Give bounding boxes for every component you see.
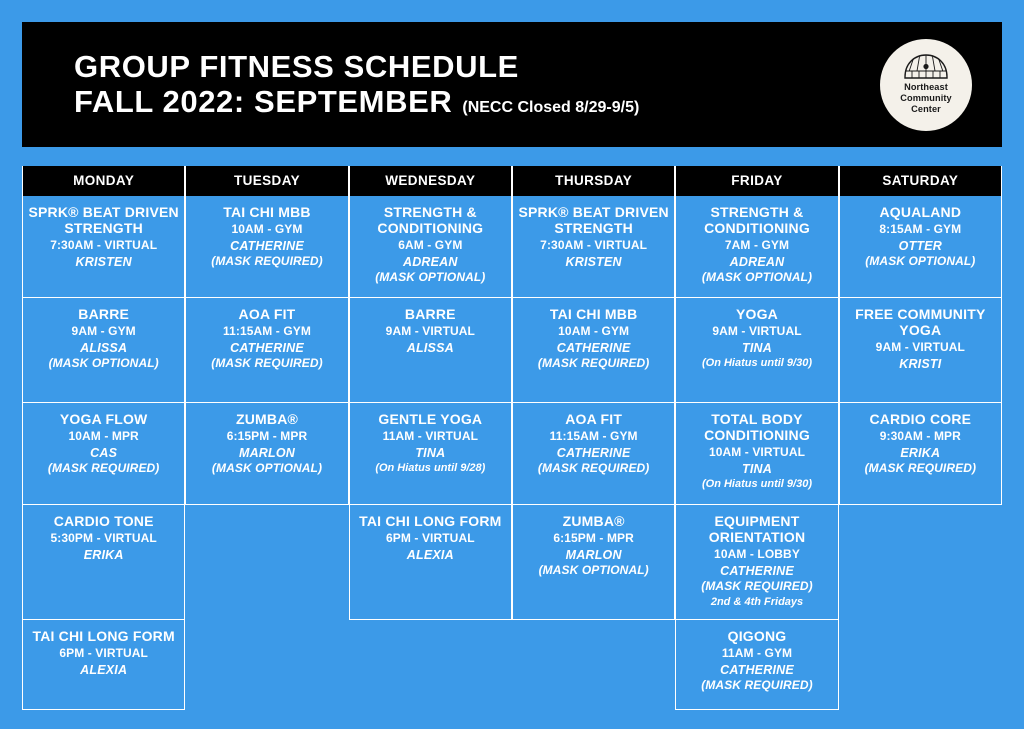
class-cell[interactable]: AOA FIT11:15AM - GYMCATHERINE(MASK REQUI…: [185, 298, 348, 403]
page-subtitle: (NECC Closed 8/29-9/5): [462, 99, 639, 117]
class-instructor: CATHERINE: [517, 445, 670, 461]
class-name: BARRE: [27, 306, 180, 322]
class-mask-policy: (MASK REQUIRED): [27, 461, 180, 477]
class-time-location: 9:30AM - MPR: [844, 429, 997, 445]
class-name: EQUIPMENT ORIENTATION: [680, 513, 833, 545]
class-time-location: 6PM - VIRTUAL: [354, 531, 507, 547]
class-note: (On Hiatus until 9/28): [354, 461, 507, 475]
class-mask-policy: (MASK REQUIRED): [844, 461, 997, 477]
class-name: YOGA: [680, 306, 833, 322]
class-time-location: 6PM - VIRTUAL: [27, 646, 180, 662]
class-instructor: TINA: [354, 445, 507, 461]
class-cell[interactable]: TAI CHI MBB10AM - GYMCATHERINE(MASK REQU…: [512, 298, 675, 403]
day-column-friday: FRIDAYSTRENGTH & CONDITIONING7AM - GYMAD…: [675, 166, 838, 710]
class-instructor: CATHERINE: [190, 340, 343, 356]
class-time-location: 5:30PM - VIRTUAL: [27, 531, 180, 547]
class-time-location: 11:15AM - GYM: [517, 429, 670, 445]
class-time-location: 11AM - GYM: [680, 646, 833, 662]
class-instructor: KRISTEN: [517, 254, 670, 270]
class-cell-empty: [839, 620, 1002, 710]
class-time-location: 6:15PM - MPR: [190, 429, 343, 445]
class-name: CARDIO TONE: [27, 513, 180, 529]
day-header-friday: FRIDAY: [675, 166, 838, 196]
class-time-location: 10AM - GYM: [517, 324, 670, 340]
class-mask-policy: (MASK REQUIRED): [190, 356, 343, 372]
class-note: (On Hiatus until 9/30): [680, 477, 833, 491]
class-note: (On Hiatus until 9/30): [680, 356, 833, 370]
day-header-monday: MONDAY: [22, 166, 185, 196]
class-name: STRENGTH & CONDITIONING: [680, 204, 833, 236]
day-header-saturday: SATURDAY: [839, 166, 1002, 196]
class-instructor: MARLON: [190, 445, 343, 461]
class-instructor: TINA: [680, 461, 833, 477]
class-instructor: KRISTEN: [27, 254, 180, 270]
class-name: QIGONG: [680, 628, 833, 644]
class-time-location: 9AM - GYM: [27, 324, 180, 340]
logo-line-1: Northeast: [900, 82, 951, 93]
class-instructor: TINA: [680, 340, 833, 356]
class-instructor: ALEXIA: [354, 547, 507, 563]
class-cell[interactable]: ZUMBA®6:15PM - MPRMARLON(MASK OPTIONAL): [512, 505, 675, 620]
class-cell[interactable]: TAI CHI LONG FORM6PM - VIRTUALALEXIA: [22, 620, 185, 710]
class-cell[interactable]: BARRE9AM - GYMALISSA(MASK OPTIONAL): [22, 298, 185, 403]
class-instructor: KRISTI: [844, 356, 997, 372]
day-header-thursday: THURSDAY: [512, 166, 675, 196]
class-time-location: 10AM - VIRTUAL: [680, 445, 833, 461]
class-mask-policy: (MASK OPTIONAL): [517, 563, 670, 579]
class-time-location: 6AM - GYM: [354, 238, 507, 254]
class-mask-policy: (MASK REQUIRED): [517, 356, 670, 372]
class-time-location: 8:15AM - GYM: [844, 222, 997, 238]
class-time-location: 7AM - GYM: [680, 238, 833, 254]
class-cell-empty: [349, 620, 512, 710]
class-instructor: CATHERINE: [517, 340, 670, 356]
class-name: GENTLE YOGA: [354, 411, 507, 427]
header-banner: GROUP FITNESS SCHEDULE FALL 2022: SEPTEM…: [22, 22, 1002, 147]
class-instructor: ALISSA: [354, 340, 507, 356]
class-name: STRENGTH & CONDITIONING: [354, 204, 507, 236]
class-cell[interactable]: EQUIPMENT ORIENTATION10AM - LOBBYCATHERI…: [675, 505, 838, 620]
class-cell[interactable]: ZUMBA®6:15PM - MPRMARLON(MASK OPTIONAL): [185, 403, 348, 505]
class-name: TOTAL BODY CONDITIONING: [680, 411, 833, 443]
day-column-monday: MONDAYSPRK® BEAT DRIVEN STRENGTH7:30AM -…: [22, 166, 185, 710]
class-cell[interactable]: SPRK® BEAT DRIVEN STRENGTH7:30AM - VIRTU…: [22, 196, 185, 298]
class-time-location: 9AM - VIRTUAL: [680, 324, 833, 340]
class-cell-empty: [185, 620, 348, 710]
logo-text: Northeast Community Center: [900, 82, 951, 116]
class-instructor: MARLON: [517, 547, 670, 563]
class-mask-policy: (MASK REQUIRED): [190, 254, 343, 270]
class-name: TAI CHI LONG FORM: [354, 513, 507, 529]
class-time-location: 7:30AM - VIRTUAL: [517, 238, 670, 254]
class-note: 2nd & 4th Fridays: [680, 595, 833, 609]
organization-logo: Northeast Community Center: [880, 39, 972, 131]
class-cell[interactable]: CARDIO TONE5:30PM - VIRTUALERIKA: [22, 505, 185, 620]
class-name: CARDIO CORE: [844, 411, 997, 427]
day-column-wednesday: WEDNESDAYSTRENGTH & CONDITIONING6AM - GY…: [349, 166, 512, 710]
class-name: TAI CHI LONG FORM: [27, 628, 180, 644]
class-cell[interactable]: GENTLE YOGA11AM - VIRTUALTINA(On Hiatus …: [349, 403, 512, 505]
class-mask-policy: (MASK OPTIONAL): [27, 356, 180, 372]
class-mask-policy: (MASK OPTIONAL): [680, 270, 833, 286]
class-instructor: OTTER: [844, 238, 997, 254]
class-cell[interactable]: AOA FIT11:15AM - GYMCATHERINE(MASK REQUI…: [512, 403, 675, 505]
class-time-location: 10AM - MPR: [27, 429, 180, 445]
day-header-tuesday: TUESDAY: [185, 166, 348, 196]
class-name: TAI CHI MBB: [190, 204, 343, 220]
class-cell[interactable]: YOGA FLOW10AM - MPRCAS(MASK REQUIRED): [22, 403, 185, 505]
class-cell[interactable]: FREE COMMUNITY YOGA9AM - VIRTUALKRISTI: [839, 298, 1002, 403]
schedule-page: GROUP FITNESS SCHEDULE FALL 2022: SEPTEM…: [0, 0, 1024, 729]
class-time-location: 10AM - LOBBY: [680, 547, 833, 563]
class-cell[interactable]: SPRK® BEAT DRIVEN STRENGTH7:30AM - VIRTU…: [512, 196, 675, 298]
class-mask-policy: (MASK REQUIRED): [680, 678, 833, 694]
class-instructor: ALISSA: [27, 340, 180, 356]
class-time-location: 11AM - VIRTUAL: [354, 429, 507, 445]
class-time-location: 10AM - GYM: [190, 222, 343, 238]
class-cell[interactable]: BARRE9AM - VIRTUALALISSA: [349, 298, 512, 403]
class-instructor: ADREAN: [680, 254, 833, 270]
class-instructor: ERIKA: [844, 445, 997, 461]
logo-line-2: Community: [900, 93, 951, 104]
class-cell[interactable]: STRENGTH & CONDITIONING7AM - GYMADREAN(M…: [675, 196, 838, 298]
class-time-location: 7:30AM - VIRTUAL: [27, 238, 180, 254]
class-time-location: 11:15AM - GYM: [190, 324, 343, 340]
class-time-location: 9AM - VIRTUAL: [844, 340, 997, 356]
class-cell[interactable]: STRENGTH & CONDITIONING6AM - GYMADREAN(M…: [349, 196, 512, 298]
class-name: AOA FIT: [517, 411, 670, 427]
class-cell[interactable]: CARDIO CORE9:30AM - MPRERIKA(MASK REQUIR…: [839, 403, 1002, 505]
class-instructor: CATHERINE: [680, 662, 833, 678]
class-name: AQUALAND: [844, 204, 997, 220]
logo-line-3: Center: [900, 104, 951, 115]
class-time-location: 6:15PM - MPR: [517, 531, 670, 547]
class-instructor: CATHERINE: [680, 563, 833, 579]
header-titles: GROUP FITNESS SCHEDULE FALL 2022: SEPTEM…: [22, 50, 639, 119]
class-cell-empty: [185, 505, 348, 620]
class-cell-empty: [512, 620, 675, 710]
class-cell-empty: [839, 505, 1002, 620]
class-mask-policy: (MASK REQUIRED): [680, 579, 833, 595]
class-name: ZUMBA®: [190, 411, 343, 427]
day-column-tuesday: TUESDAYTAI CHI MBB10AM - GYMCATHERINE(MA…: [185, 166, 348, 710]
page-title-line1: GROUP FITNESS SCHEDULE: [74, 50, 639, 85]
class-instructor: ERIKA: [27, 547, 180, 563]
class-name: FREE COMMUNITY YOGA: [844, 306, 997, 338]
page-title-line2: FALL 2022: SEPTEMBER: [74, 85, 452, 120]
class-mask-policy: (MASK OPTIONAL): [190, 461, 343, 477]
class-name: AOA FIT: [190, 306, 343, 322]
class-instructor: CAS: [27, 445, 180, 461]
class-cell[interactable]: AQUALAND8:15AM - GYMOTTER(MASK OPTIONAL): [839, 196, 1002, 298]
class-name: YOGA FLOW: [27, 411, 180, 427]
class-cell[interactable]: TAI CHI LONG FORM6PM - VIRTUALALEXIA: [349, 505, 512, 620]
class-time-location: 9AM - VIRTUAL: [354, 324, 507, 340]
day-column-thursday: THURSDAYSPRK® BEAT DRIVEN STRENGTH7:30AM…: [512, 166, 675, 710]
class-instructor: ADREAN: [354, 254, 507, 270]
class-name: SPRK® BEAT DRIVEN STRENGTH: [27, 204, 180, 236]
class-cell[interactable]: QIGONG11AM - GYMCATHERINE(MASK REQUIRED): [675, 620, 838, 710]
class-name: BARRE: [354, 306, 507, 322]
class-mask-policy: (MASK OPTIONAL): [844, 254, 997, 270]
day-header-wednesday: WEDNESDAY: [349, 166, 512, 196]
class-instructor: ALEXIA: [27, 662, 180, 678]
schedule-grid: MONDAYSPRK® BEAT DRIVEN STRENGTH7:30AM -…: [22, 166, 1002, 710]
class-mask-policy: (MASK OPTIONAL): [354, 270, 507, 286]
class-cell[interactable]: TOTAL BODY CONDITIONING10AM - VIRTUALTIN…: [675, 403, 838, 505]
class-name: TAI CHI MBB: [517, 306, 670, 322]
class-instructor: CATHERINE: [190, 238, 343, 254]
arched-window-icon: [903, 54, 949, 79]
class-mask-policy: (MASK REQUIRED): [517, 461, 670, 477]
class-cell[interactable]: TAI CHI MBB10AM - GYMCATHERINE(MASK REQU…: [185, 196, 348, 298]
class-name: ZUMBA®: [517, 513, 670, 529]
day-column-saturday: SATURDAYAQUALAND8:15AM - GYMOTTER(MASK O…: [839, 166, 1002, 710]
class-name: SPRK® BEAT DRIVEN STRENGTH: [517, 204, 670, 236]
class-cell[interactable]: YOGA9AM - VIRTUALTINA(On Hiatus until 9/…: [675, 298, 838, 403]
